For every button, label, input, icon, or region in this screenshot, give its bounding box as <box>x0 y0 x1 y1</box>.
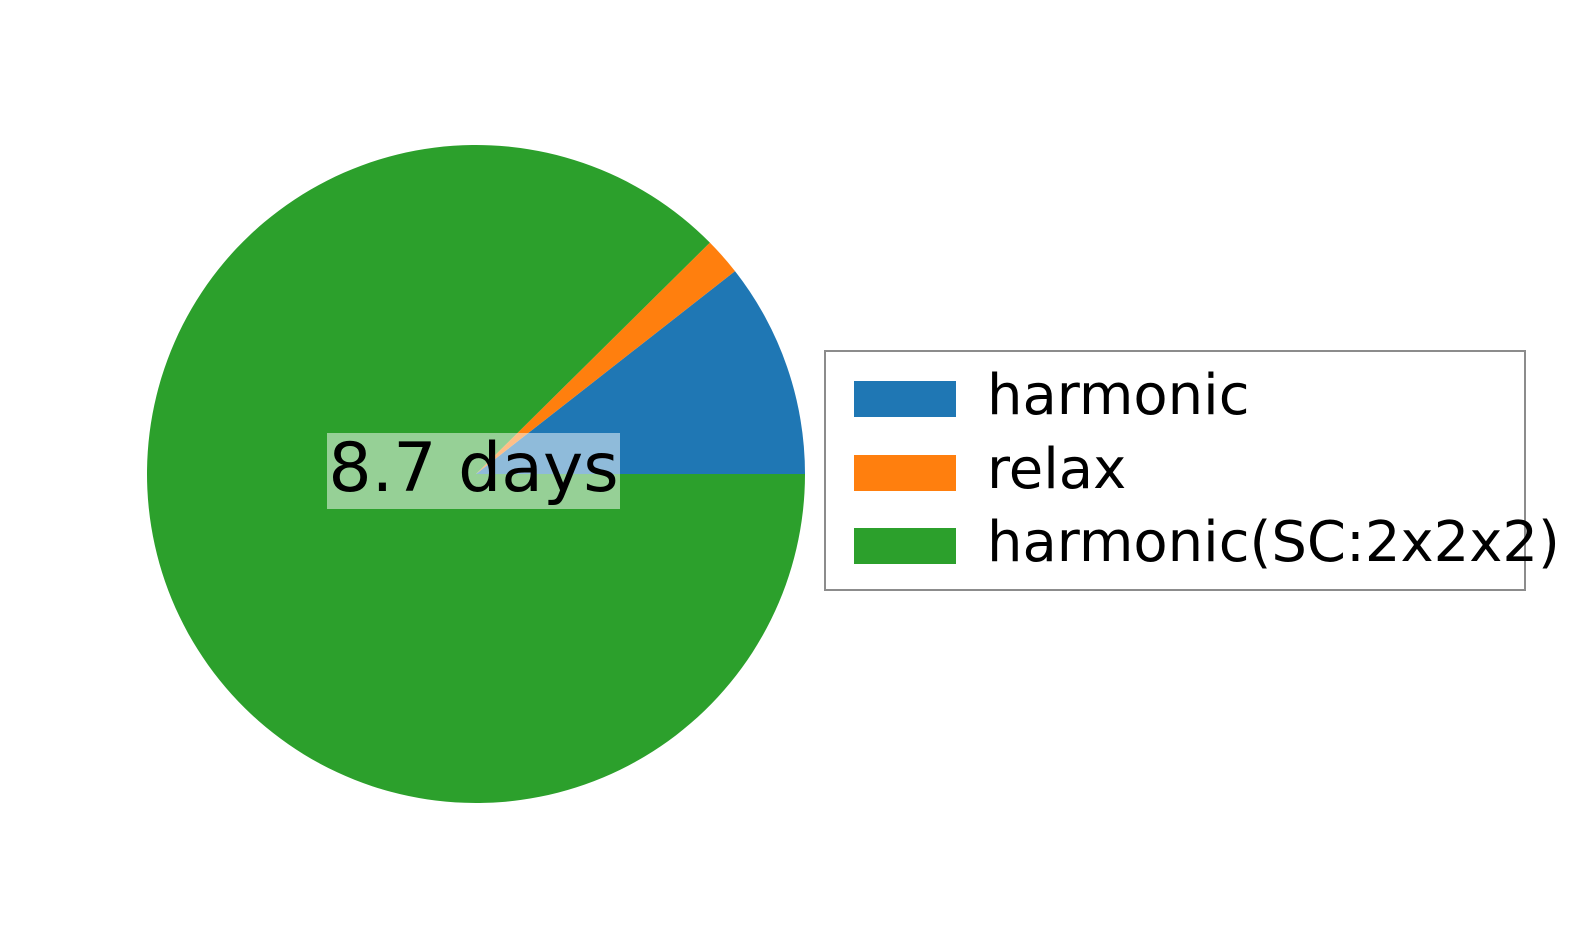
legend-box: harmonic relax harmonic(SC:2x2x2) <box>824 350 1526 591</box>
legend-label-harmonic: harmonic <box>987 368 1250 430</box>
center-total-label: 8.7 days <box>327 433 620 509</box>
legend-swatch-harmonic-sc <box>854 528 956 564</box>
legend-entry-harmonic-sc[interactable]: harmonic(SC:2x2x2) <box>854 528 1560 564</box>
legend-swatch-harmonic <box>854 381 956 417</box>
legend-swatch-relax <box>854 455 956 491</box>
pie-chart-figure: 8.7 days harmonic relax harmonic(SC:2x2x… <box>0 0 1584 951</box>
legend-entry-harmonic[interactable]: harmonic <box>854 381 1250 417</box>
legend-entry-relax[interactable]: relax <box>854 455 1126 491</box>
center-total-value: 8.7 days <box>328 435 618 507</box>
legend-label-relax: relax <box>987 442 1126 504</box>
legend-label-harmonic-sc: harmonic(SC:2x2x2) <box>987 515 1560 577</box>
